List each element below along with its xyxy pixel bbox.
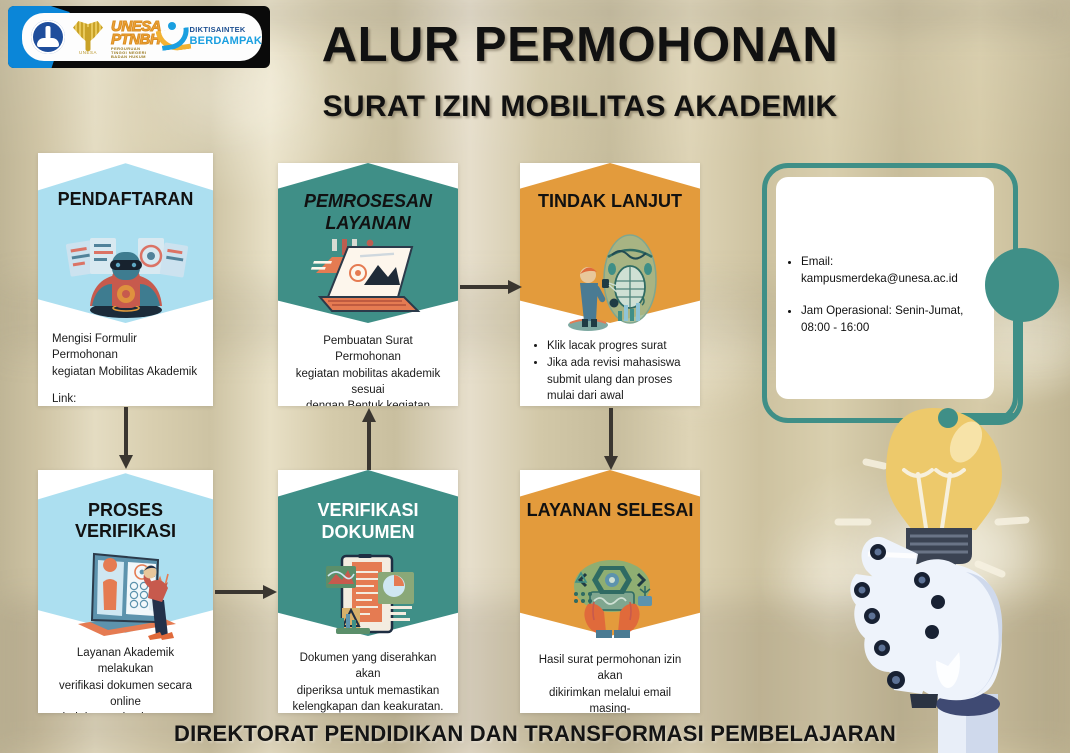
contact-list: Email: kampusmerdeka@unesa.ac.id Jam Ope… bbox=[785, 253, 988, 337]
document-report-icon bbox=[326, 552, 418, 640]
contact-hours-value: 08:00 - 16:00 bbox=[801, 321, 869, 334]
vr-user-dashboard-icon bbox=[62, 228, 190, 318]
card-title-pendaftaran: PENDAFTARAN bbox=[38, 189, 213, 210]
step-card-pendaftaran[interactable]: PENDAFTARAN bbox=[38, 153, 213, 406]
step-card-layanan-selesai[interactable]: LAYANAN SELESAI Hasil surat perm bbox=[520, 470, 700, 713]
step-card-tindak-lanjut[interactable]: TINDAK LANJUT bbox=[520, 163, 700, 406]
person-tracking-progress-icon bbox=[558, 231, 668, 335]
body-line: kegiatan Mobilitas Akademik bbox=[52, 364, 203, 380]
step-card-proses-verifikasi[interactable]: PROSES VERIFIKASI bbox=[38, 470, 213, 713]
step-card-verifikasi-dokumen[interactable]: VERIFIKASI DOKUMEN bbox=[278, 470, 458, 713]
card-body-pemrosesan: Pembuatan Surat Permohonan kegiatan mobi… bbox=[278, 333, 458, 406]
flow-arrow-up-dokumen-to-pemrosesan bbox=[362, 408, 376, 470]
contact-card[interactable]: Email: kampusmerdeka@unesa.ac.id Jam Ope… bbox=[776, 177, 994, 399]
tindak-lanjut-bullets: Klik lacak progres surat Jika ada revisi… bbox=[530, 338, 694, 404]
body-line: Link: bbox=[52, 391, 203, 406]
body-line: Layanan Akademik melakukan bbox=[50, 645, 201, 678]
body-line: diperiksa untuk memastikan bbox=[290, 683, 446, 699]
infographic-poster: UNESA UNESA PTNBH PERGURUAN TINGGI NEGER… bbox=[0, 0, 1070, 753]
card-title-verifikasi-line2: DOKUMEN bbox=[278, 522, 458, 543]
page-title: ALUR PERMOHONAN bbox=[300, 20, 860, 72]
body-line: dikirimkan melalui email masing- bbox=[532, 685, 688, 713]
hands-holding-package-icon bbox=[566, 556, 658, 638]
card-title-layanan-selesai: LAYANAN SELESAI bbox=[520, 500, 700, 521]
unesa-ptnbh-wordmark-icon: UNESA PTNBH PERGURUAN TINGGI NEGERI BADA… bbox=[111, 18, 150, 56]
card-body-proses-verifikasi: Layanan Akademik melakukan verifikasi do… bbox=[38, 645, 213, 713]
body-line: Pembuatan Surat Permohonan bbox=[290, 333, 446, 366]
bullet-item: Jika ada revisi mahasiswa submit ulang d… bbox=[547, 355, 694, 404]
unesa-caption: UNESA bbox=[72, 50, 104, 55]
bullet-item: Klik lacak progres surat bbox=[547, 338, 694, 354]
body-line: kelengkapan dan keakuratan. bbox=[290, 699, 446, 713]
contact-decor-circle bbox=[985, 248, 1059, 322]
diktisaintek-berdampak-logo-icon: DIKTISAINTEK BERDAMPAK bbox=[157, 22, 262, 52]
card-body-pendaftaran: Mengisi Formulir Permohonan kegiatan Mob… bbox=[38, 331, 213, 406]
body-line: Hasil surat permohonan izin akan bbox=[532, 652, 688, 685]
ptnbh-line3: PERGURUAN TINGGI NEGERI BADAN HUKUM bbox=[111, 47, 150, 59]
flow-arrow-down-tindak-lanjut-to-selesai bbox=[604, 408, 618, 470]
body-line: Mengisi Formulir Permohonan bbox=[52, 331, 203, 364]
flow-arrow-right-pemrosesan-to-tindak-lanjut bbox=[460, 280, 522, 294]
flow-arrow-right-verifikasi-to-dokumen bbox=[215, 585, 277, 599]
card-title-pemrosesan-line2: LAYANAN bbox=[278, 213, 458, 234]
card-title-pemrosesan-line1: PEMROSESAN bbox=[278, 191, 458, 212]
step-card-pemrosesan-layanan[interactable]: PEMROSESAN LAYANAN Pembua bbox=[278, 163, 458, 406]
laptop-analytics-icon bbox=[308, 239, 428, 315]
card-body-tindak-lanjut: Klik lacak progres surat Jika ada revisi… bbox=[520, 338, 700, 405]
unesa-crest-logo-icon: UNESA bbox=[72, 19, 104, 55]
ptnbh-line2: PTNBH bbox=[111, 32, 160, 47]
contact-email-label: Email: bbox=[801, 255, 833, 268]
robot-hand-holding-lightbulb bbox=[826, 404, 1070, 753]
diktisaintek-line1: DIKTISAINTEK bbox=[190, 26, 262, 35]
footer-text: DIREKTORAT PENDIDIKAN DAN TRANSFORMASI P… bbox=[0, 722, 1070, 746]
tutwuri-handayani-logo-icon bbox=[31, 20, 65, 54]
body-line: Dokumen yang diserahkan akan bbox=[290, 650, 446, 683]
page-subtitle: SURAT IZIN MOBILITAS AKADEMIK bbox=[300, 90, 860, 123]
card-body-verifikasi-dokumen: Dokumen yang diserahkan akan diperiksa u… bbox=[278, 650, 458, 713]
institution-logo-bar: UNESA UNESA PTNBH PERGURUAN TINGGI NEGER… bbox=[8, 6, 270, 68]
contact-email-item: Email: kampusmerdeka@unesa.ac.id bbox=[801, 253, 988, 288]
card-title-tindak-lanjut: TINDAK LANJUT bbox=[520, 191, 700, 212]
diktisaintek-line2: BERDAMPAK bbox=[190, 35, 262, 48]
body-line: dari data mahasiswa yang masuk bbox=[50, 710, 201, 713]
contact-email-value: kampusmerdeka@unesa.ac.id bbox=[801, 272, 958, 285]
body-line: kegiatan mobilitas akademik sesuai bbox=[290, 366, 446, 399]
card-title-proses-verifikasi: PROSES VERIFIKASI bbox=[38, 500, 213, 542]
contact-hours-label: Jam Operasional: Senin-Jumat, bbox=[801, 304, 963, 317]
body-line: dengan Bentuk kegiatan bbox=[290, 398, 446, 406]
card-body-layanan-selesai: Hasil surat permohonan izin akan dikirim… bbox=[520, 652, 700, 713]
body-line: verifikasi dokumen secara online bbox=[50, 678, 201, 711]
contact-hours-item: Jam Operasional: Senin-Jumat, 08:00 - 16… bbox=[801, 302, 988, 337]
data-verification-screen-icon bbox=[64, 548, 192, 640]
card-title-verifikasi-line1: VERIFIKASI bbox=[278, 500, 458, 521]
contact-decor-dot bbox=[938, 408, 958, 428]
flow-arrow-down-pendaftaran-to-verifikasi bbox=[119, 407, 133, 469]
